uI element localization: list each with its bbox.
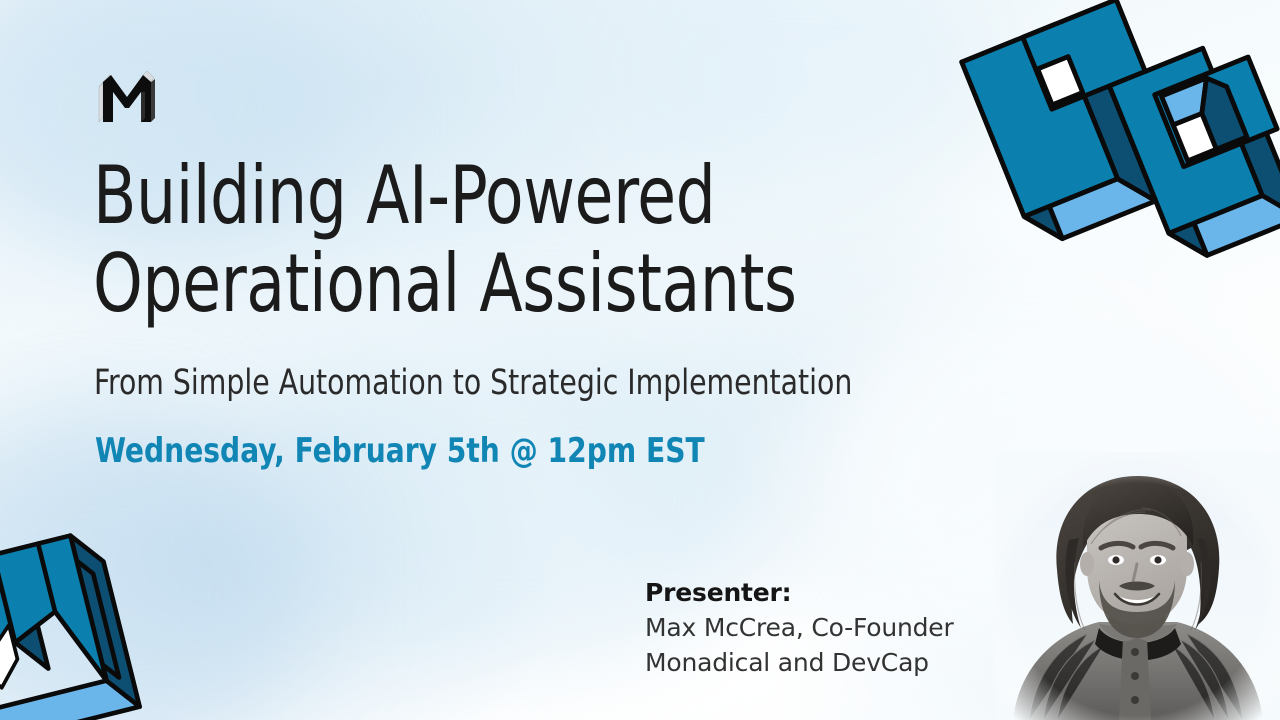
brand-logo-m-icon	[95, 70, 159, 130]
isometric-m-logo-top-right-icon	[980, 0, 1280, 308]
page-subtitle: From Simple Automation to Strategic Impl…	[94, 362, 949, 404]
presenter-headshot	[995, 452, 1280, 720]
isometric-m-logo-bottom-left-icon	[0, 502, 210, 720]
presenter-block: Presenter: Max McCrea, Co-Founder Monadi…	[645, 576, 1045, 680]
page-title: Building AI-Powered Operational Assistan…	[93, 152, 885, 328]
webinar-slide: Building AI-Powered Operational Assistan…	[0, 0, 1280, 720]
presenter-organization: Monadical and DevCap	[645, 645, 1045, 680]
presenter-label: Presenter:	[645, 576, 1045, 610]
presenter-name: Max McCrea, Co-Founder	[645, 610, 1045, 645]
event-datetime: Wednesday, February 5th @ 12pm EST	[95, 430, 923, 472]
